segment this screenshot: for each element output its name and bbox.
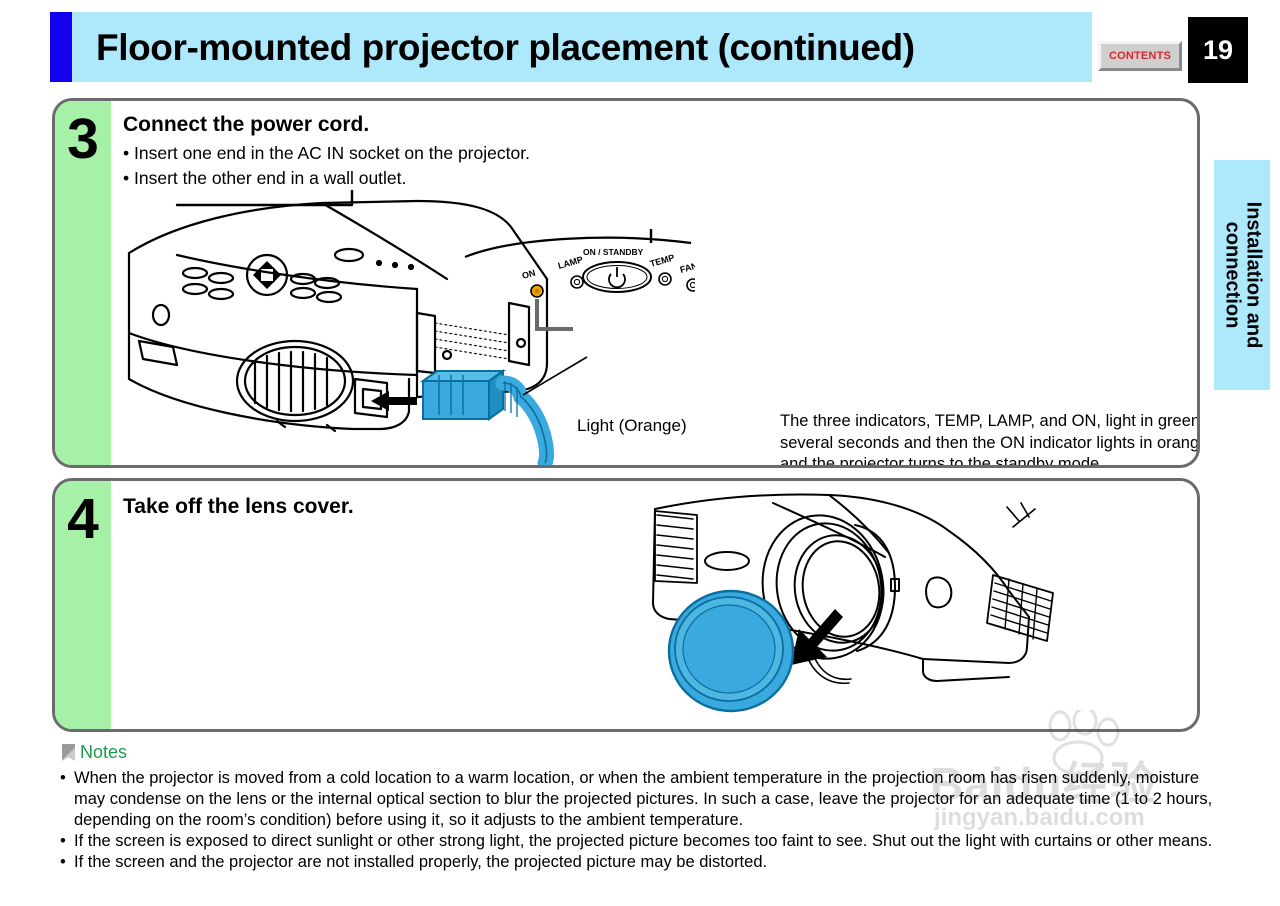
- note-item-text: If the screen is exposed to direct sunli…: [74, 832, 1212, 850]
- bullet-dot-icon: •: [60, 852, 66, 873]
- notes-title: Notes: [80, 742, 127, 763]
- section-tab-label-line1: Installation and: [1242, 202, 1263, 349]
- step-3-bullet-1: •Insert one end in the AC IN socket on t…: [123, 141, 530, 166]
- step-3-panel: 3 Connect the power cord. •Insert one en…: [52, 98, 1200, 468]
- contents-button-label: CONTENTS: [1109, 50, 1171, 62]
- step-3-indicator-notes: The three indicators, TEMP, LAMP, and ON…: [780, 411, 1200, 468]
- power-cord-plug: [423, 371, 547, 463]
- note-item-text: If the screen and the projector are not …: [74, 853, 767, 871]
- notes-flag-icon: [62, 744, 75, 761]
- step-3-bullet-1-text: Insert one end in the AC IN socket on th…: [134, 143, 530, 163]
- section-tab-label-line2: connection: [1221, 202, 1242, 349]
- step-3-number: 3: [55, 111, 111, 168]
- page-header: Floor-mounted projector placement (conti…: [0, 0, 1280, 88]
- step-3-heading: Connect the power cord.: [123, 113, 369, 137]
- header-accent-bar: [50, 12, 72, 82]
- indicator-label-temp: TEMP: [649, 252, 676, 269]
- contents-button[interactable]: CONTENTS: [1098, 41, 1182, 71]
- page-title: Floor-mounted projector placement (conti…: [96, 22, 1086, 74]
- note-item: • When the projector is moved from a col…: [58, 768, 1218, 831]
- page-number-badge: 19: [1188, 17, 1248, 83]
- section-tab-label: Installation and connection: [1221, 202, 1263, 349]
- indicator-panel-illustration: ON LAMP ON / STANDBY TEMP FAN: [455, 229, 695, 339]
- bullet-dot-icon: •: [123, 141, 134, 166]
- bullet-dot-icon: •: [60, 768, 66, 789]
- page-number: 19: [1203, 35, 1233, 66]
- step-3-note-1: The three indicators, TEMP, LAMP, and ON…: [780, 411, 1200, 468]
- indicator-label-lamp: LAMP: [557, 254, 584, 271]
- lens-cover-illustration: [623, 487, 1093, 731]
- notes-header: Notes: [58, 742, 1218, 766]
- bullet-dot-icon: •: [60, 831, 66, 852]
- step-4-number: 4: [55, 491, 111, 548]
- note-item: • If the screen is exposed to direct sun…: [58, 831, 1218, 852]
- indicator-label-on: ON: [521, 268, 537, 281]
- callout-light-orange: Light (Orange): [577, 416, 687, 436]
- note-item-text: When the projector is moved from a cold …: [74, 769, 1212, 829]
- power-button-label: ON / STANDBY: [583, 247, 644, 257]
- section-tab-installation-and-connection[interactable]: Installation and connection: [1214, 160, 1270, 390]
- lens-cover: [669, 591, 793, 711]
- note-item: • If the screen and the projector are no…: [58, 852, 1218, 873]
- step-4-heading: Take off the lens cover.: [123, 495, 354, 519]
- indicator-label-fan: FAN: [679, 260, 695, 275]
- step-4-panel: 4 Take off the lens cover.: [52, 478, 1200, 732]
- notes-section: Notes • When the projector is moved from…: [58, 742, 1218, 873]
